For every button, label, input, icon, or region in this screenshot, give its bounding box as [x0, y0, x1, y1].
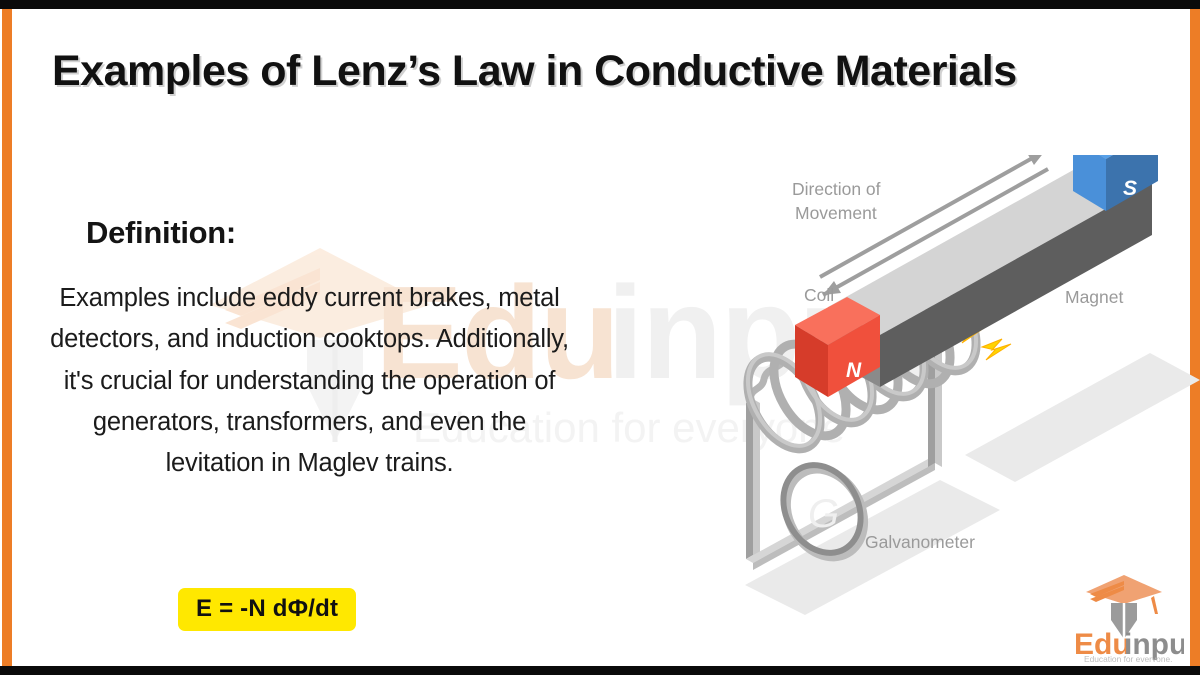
definition-body: Examples include eddy current brakes, me…	[42, 278, 577, 484]
label-direction-line2: Movement	[795, 203, 877, 223]
label-coil: Coil	[804, 285, 834, 305]
induction-diagram: G	[700, 155, 1200, 625]
formula-badge: E = -N dФ/dt	[178, 588, 356, 631]
definition-heading: Definition:	[86, 215, 236, 251]
north-pole-letter: N	[846, 359, 862, 382]
frame-bar-bottom	[0, 666, 1200, 675]
label-galvanometer: Galvanometer	[865, 532, 975, 552]
slide-canvas: Edu input Education for everyone Example…	[0, 0, 1200, 675]
frame-bar-top	[0, 0, 1200, 9]
svg-text:G: G	[808, 492, 839, 536]
eduinput-logo: Edu input Education for everyone.	[1066, 570, 1184, 662]
frame-bar-left	[2, 9, 12, 666]
page-title: Examples of Lenz’s Law in Conductive Mat…	[52, 48, 1162, 95]
label-direction-line1: Direction of	[792, 179, 881, 199]
logo-tagline: Education for everyone.	[1084, 654, 1172, 662]
south-pole-letter: S	[1123, 177, 1137, 200]
label-magnet: Magnet	[1065, 287, 1124, 307]
